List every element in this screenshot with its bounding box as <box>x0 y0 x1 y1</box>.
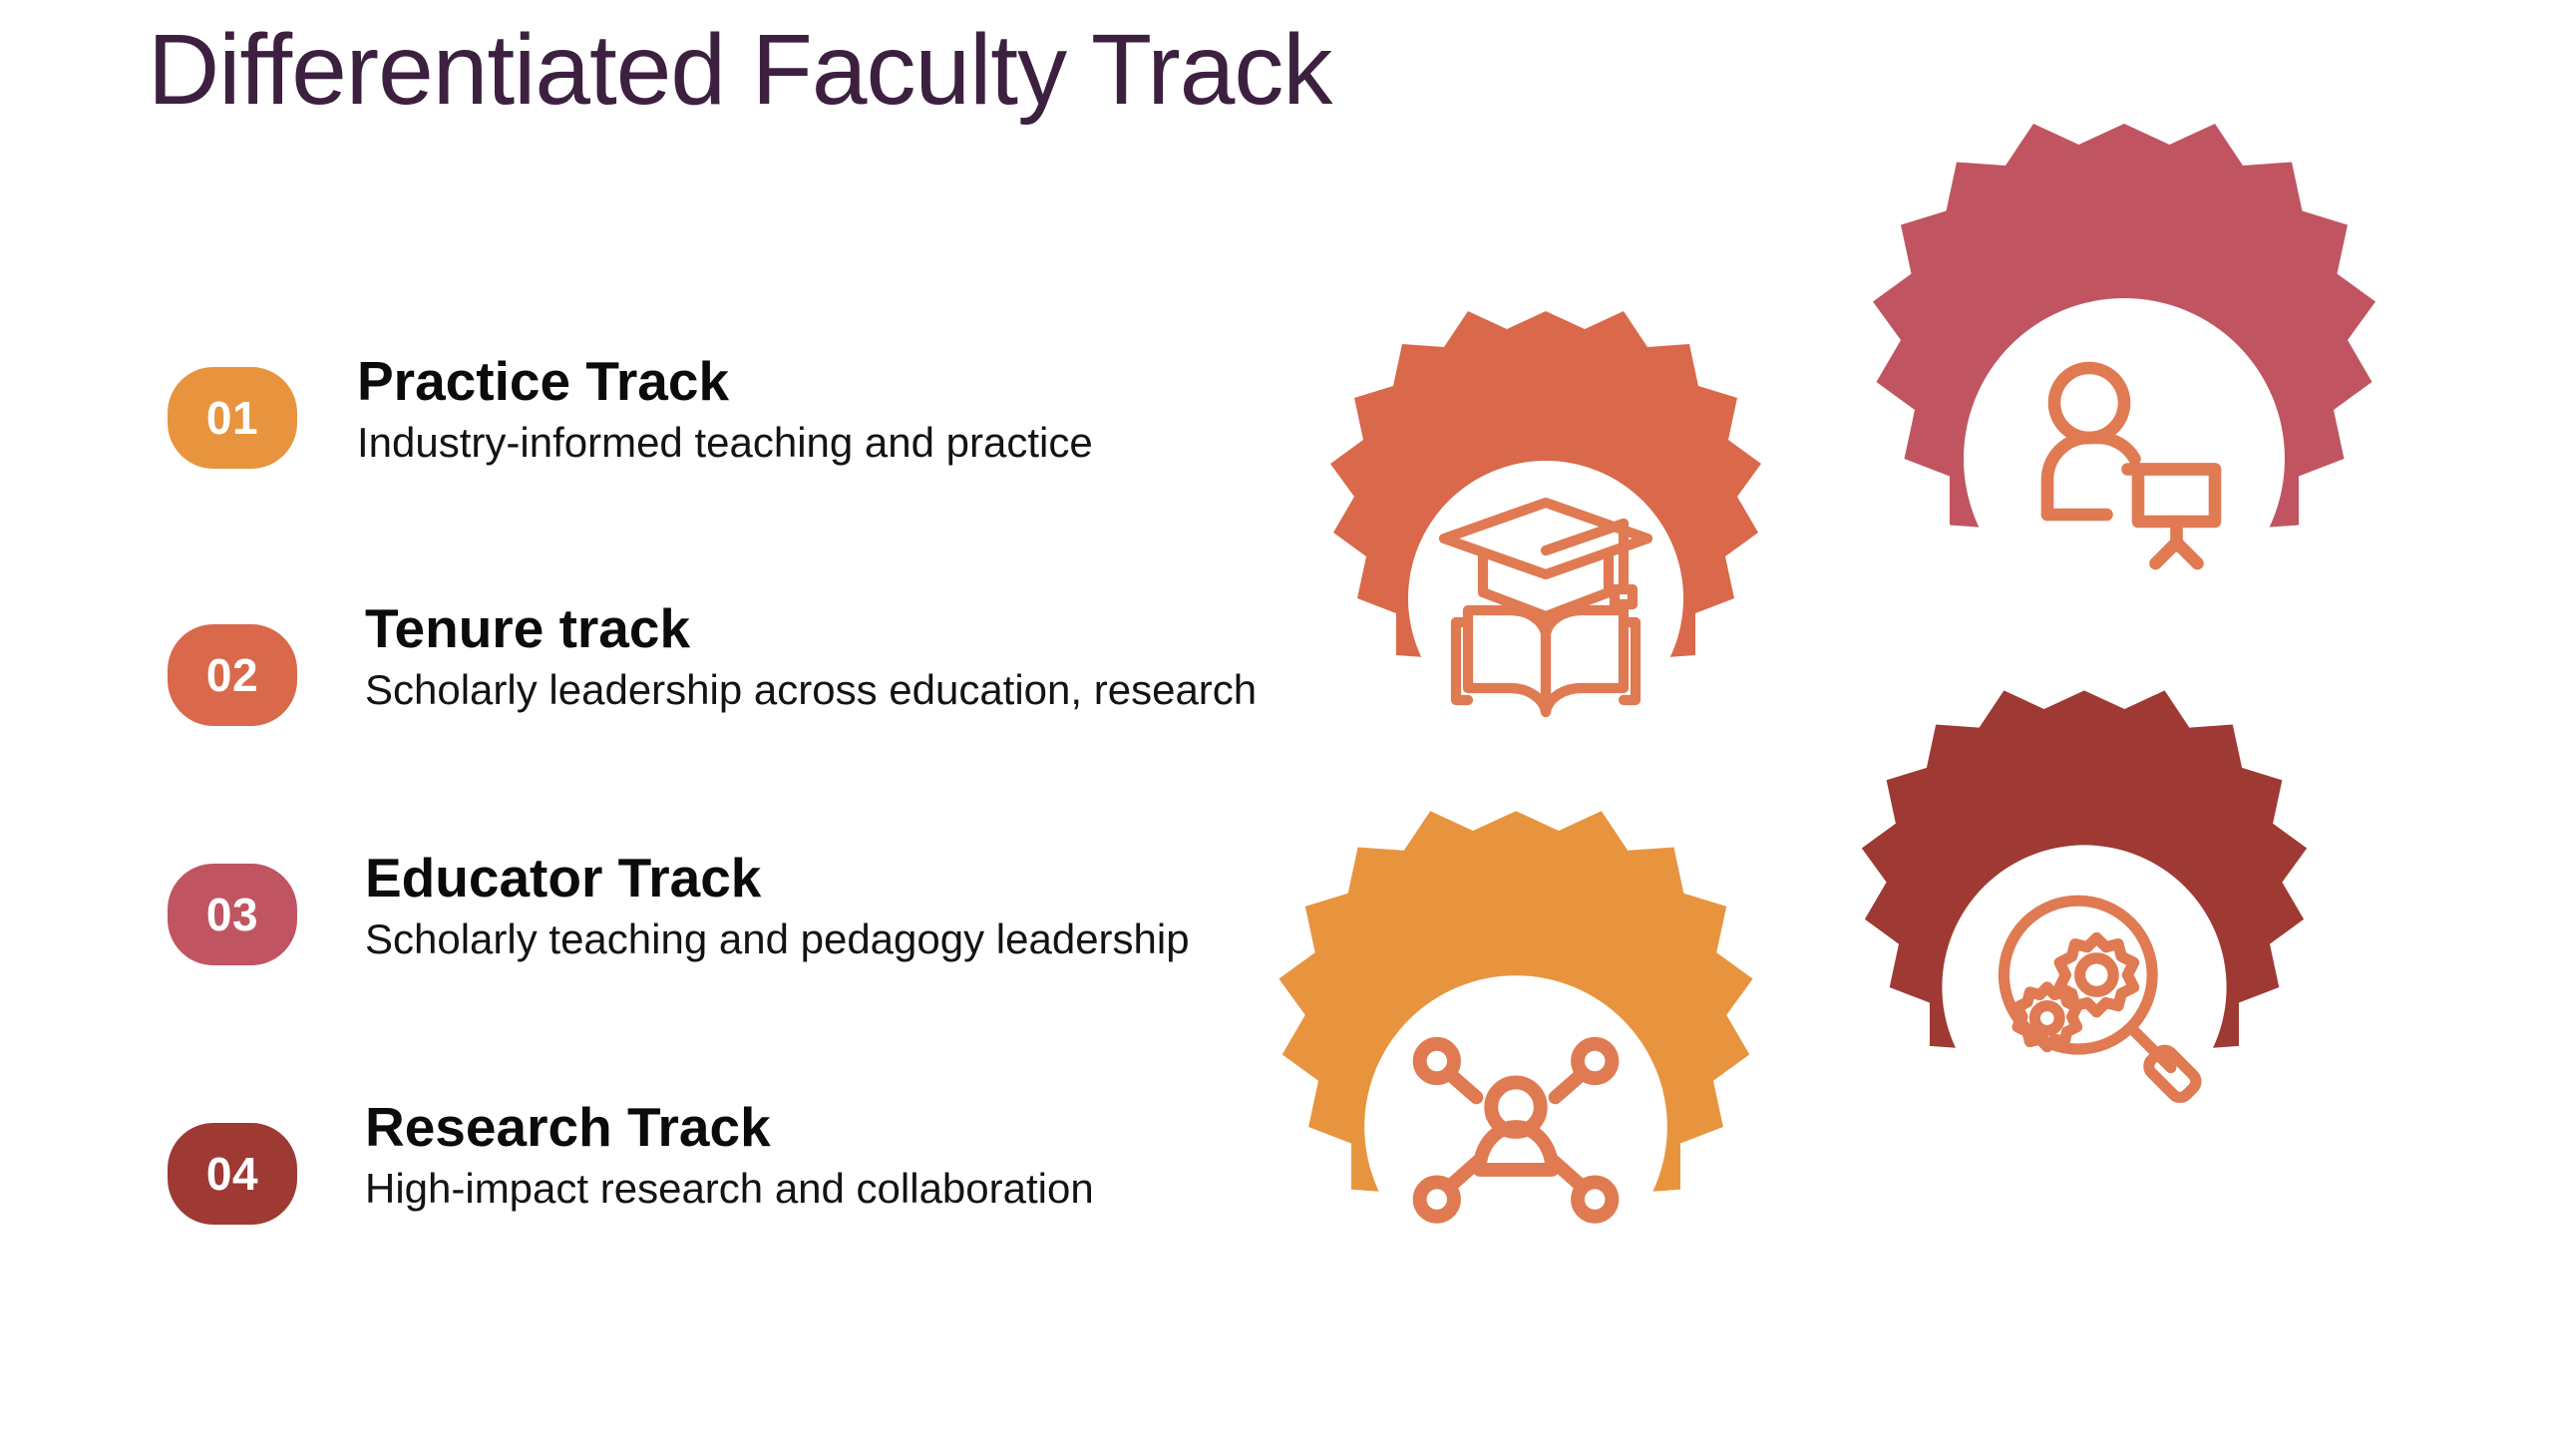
gear-tenure <box>1775 110 2473 808</box>
track-number-badge: 02 <box>168 624 297 726</box>
list-item[interactable]: 04 Research Track High-impact research a… <box>0 1105 1247 1274</box>
list-item[interactable]: 02 Tenure track Scholarly leadership acr… <box>0 606 1247 776</box>
track-text-block: Practice Track Industry-informed teachin… <box>357 351 1235 467</box>
track-title: Practice Track <box>357 351 1235 413</box>
gear-illustration-cluster <box>1177 80 2553 1456</box>
track-text-block: Educator Track Scholarly teaching and pe… <box>365 848 1243 963</box>
track-number-badge: 04 <box>168 1123 297 1225</box>
track-subtitle: High-impact research and collaboration <box>365 1165 1243 1213</box>
track-number-badge: 03 <box>168 864 297 965</box>
track-subtitle: Scholarly leadership across education, r… <box>365 666 1243 714</box>
track-subtitle: Scholarly teaching and pedagogy leadersh… <box>365 915 1243 963</box>
gear-practice <box>1247 299 1845 898</box>
track-title: Research Track <box>365 1097 1243 1159</box>
track-text-block: Research Track High-impact research and … <box>365 1097 1243 1213</box>
list-item[interactable]: 03 Educator Track Scholarly teaching and… <box>0 856 1247 1025</box>
list-item[interactable]: 01 Practice Track Industry-informed teac… <box>0 359 1247 529</box>
track-number-badge: 01 <box>168 367 297 469</box>
track-subtitle: Industry-informed teaching and practice <box>357 419 1235 467</box>
track-text-block: Tenure track Scholarly leadership across… <box>365 598 1243 714</box>
track-list: 01 Practice Track Industry-informed teac… <box>0 0 1247 1436</box>
track-title: Educator Track <box>365 848 1243 910</box>
track-title: Tenure track <box>365 598 1243 660</box>
gear-hub <box>1964 298 2285 619</box>
